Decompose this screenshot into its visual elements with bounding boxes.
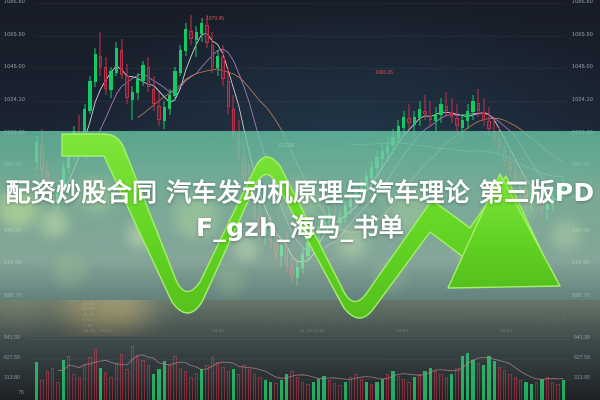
candle-body bbox=[546, 204, 549, 209]
candle-body bbox=[258, 215, 261, 232]
candle-body bbox=[296, 267, 299, 278]
indicator-bar bbox=[414, 317, 415, 322]
volume-tick-label: 313.80 bbox=[574, 376, 590, 381]
indicator-bar bbox=[350, 317, 351, 322]
indicator-bar bbox=[244, 319, 245, 322]
candlestick bbox=[40, 0, 43, 300]
indicator-panel: 46.3532.8019.256.40-7.30-21.95 09:3010:3… bbox=[0, 300, 600, 336]
candle-body bbox=[530, 192, 533, 200]
price-tick-label: 961.40 bbox=[4, 196, 22, 201]
candlestick bbox=[413, 0, 416, 300]
candlestick bbox=[471, 0, 474, 300]
candlestick bbox=[157, 0, 160, 300]
indicator-bar bbox=[531, 321, 532, 322]
volume-tick-label: 627.59 bbox=[4, 356, 20, 361]
candle-body bbox=[221, 57, 224, 79]
candlestick bbox=[487, 0, 490, 300]
price-tick-label: 1086.80 bbox=[572, 0, 593, 5]
candlestick bbox=[338, 0, 341, 300]
indicator-bar bbox=[153, 320, 154, 322]
price-annotation: 912.29 → bbox=[279, 144, 301, 149]
candlestick bbox=[173, 0, 176, 300]
price-tick-label: 982.30 bbox=[572, 163, 590, 168]
candle-body bbox=[115, 48, 118, 73]
candle-body bbox=[269, 225, 272, 242]
indicator-bar bbox=[190, 318, 191, 322]
candlestick bbox=[168, 0, 171, 300]
indicator-bar bbox=[217, 315, 218, 322]
candlestick bbox=[306, 0, 309, 300]
candle-body bbox=[562, 184, 565, 190]
price-tick-label: 1045.00 bbox=[572, 65, 593, 70]
price-tick-label: 1045.00 bbox=[4, 65, 25, 70]
candlestick bbox=[152, 0, 155, 300]
price-tick-label: 919.60 bbox=[572, 261, 590, 266]
indicator-bar bbox=[419, 316, 420, 322]
candle-body bbox=[439, 104, 442, 115]
indicator-bar bbox=[286, 319, 287, 322]
candle-body bbox=[195, 32, 198, 40]
candlestick bbox=[466, 0, 469, 300]
indicator-bar bbox=[297, 319, 298, 322]
indicator-bar bbox=[212, 315, 213, 322]
candlestick bbox=[67, 0, 70, 300]
candlestick bbox=[381, 0, 384, 300]
candlestick bbox=[195, 0, 198, 300]
candle-body bbox=[168, 95, 171, 109]
volume-tick-label: 941.39 bbox=[574, 336, 590, 341]
candlestick bbox=[104, 0, 107, 300]
candle-body bbox=[72, 131, 75, 156]
indicator-bar bbox=[47, 319, 48, 322]
candle-body bbox=[56, 192, 59, 205]
indicator-bar bbox=[371, 318, 372, 323]
indicator-bar bbox=[467, 320, 468, 322]
candle-body bbox=[179, 50, 182, 73]
candlestick bbox=[535, 0, 538, 300]
candlestick bbox=[200, 0, 203, 300]
indicator-bar bbox=[552, 318, 553, 323]
indicator-bar bbox=[206, 315, 207, 322]
candlestick bbox=[179, 0, 182, 300]
candle-wick bbox=[100, 32, 101, 76]
candle-body bbox=[429, 115, 432, 120]
candle-body bbox=[35, 142, 38, 162]
indicator-bar bbox=[185, 319, 186, 322]
indicator-bar bbox=[318, 320, 319, 322]
indicator-bar bbox=[361, 317, 362, 322]
candle-body bbox=[152, 89, 155, 105]
candle-body bbox=[306, 242, 309, 256]
candle-body bbox=[99, 56, 102, 67]
indicator-bar bbox=[105, 319, 106, 322]
volume-tick-label: 627.59 bbox=[574, 356, 590, 361]
indicator-bar bbox=[462, 319, 463, 322]
candle-body bbox=[466, 111, 469, 122]
price-tick-label: 1024.10 bbox=[572, 98, 593, 103]
candle-body bbox=[131, 92, 134, 100]
candle-body bbox=[163, 107, 166, 121]
candle-body bbox=[322, 220, 325, 228]
candle-body bbox=[349, 198, 352, 207]
candle-body bbox=[328, 214, 331, 222]
candle-body bbox=[88, 81, 91, 111]
candlestick bbox=[445, 0, 448, 300]
candle-body bbox=[184, 29, 187, 51]
candlestick bbox=[62, 0, 65, 300]
candle-body bbox=[397, 126, 400, 139]
candle-body bbox=[386, 145, 389, 153]
indicator-bar bbox=[79, 316, 80, 322]
candle-body bbox=[40, 145, 43, 170]
indicator-bar bbox=[281, 319, 282, 322]
indicator-bar bbox=[446, 316, 447, 322]
candlestick bbox=[285, 0, 288, 300]
price-tick-label: 1065.90 bbox=[4, 33, 25, 38]
candle-body bbox=[455, 118, 458, 126]
indicator-bar bbox=[228, 315, 229, 322]
indicator-bar bbox=[73, 316, 74, 322]
price-tick-label: 919.60 bbox=[4, 261, 22, 266]
candlestick bbox=[344, 0, 347, 300]
candle-body bbox=[519, 181, 522, 189]
candlestick bbox=[370, 0, 373, 300]
indicator-bar bbox=[127, 321, 128, 323]
indicator-bar bbox=[377, 318, 378, 322]
indicator-bar bbox=[196, 317, 197, 322]
price-annotation: ←1079.45 bbox=[201, 17, 224, 22]
candlestick bbox=[540, 0, 543, 300]
indicator-bar bbox=[84, 317, 85, 322]
candlestick bbox=[434, 0, 437, 300]
candlestick bbox=[237, 0, 240, 300]
price-tick-label: 1003.20 bbox=[572, 131, 593, 136]
indicator-bar bbox=[121, 321, 122, 323]
indicator-bar bbox=[57, 317, 58, 322]
candlestick bbox=[519, 0, 522, 300]
candlestick bbox=[317, 0, 320, 300]
candle-body bbox=[285, 247, 288, 266]
candle-body bbox=[205, 25, 208, 44]
candle-body bbox=[471, 101, 474, 112]
indicator-bar bbox=[159, 321, 160, 323]
candle-body bbox=[487, 121, 490, 129]
candle-wick bbox=[79, 115, 80, 142]
indicator-bar bbox=[339, 318, 340, 322]
candle-body bbox=[375, 157, 378, 168]
volume-tick-label: 313.80 bbox=[4, 376, 20, 381]
indicator-bar bbox=[435, 315, 436, 322]
candlestick bbox=[280, 0, 283, 300]
indicator-bar bbox=[403, 319, 404, 322]
price-tick-label: 940.50 bbox=[572, 229, 590, 234]
candle-body bbox=[173, 71, 176, 96]
candlestick bbox=[360, 0, 363, 300]
price-tick-label: 898.70 bbox=[4, 294, 22, 299]
candlestick bbox=[429, 0, 432, 300]
candle-body bbox=[524, 190, 527, 198]
candlestick bbox=[147, 0, 150, 300]
candle-wick bbox=[409, 104, 410, 129]
volume-ma-svg bbox=[0, 337, 600, 400]
candle-body bbox=[450, 112, 453, 117]
indicator-bar bbox=[265, 320, 266, 322]
candlestick bbox=[94, 0, 97, 300]
candlestick bbox=[455, 0, 458, 300]
candlestick bbox=[493, 0, 496, 300]
candlestick bbox=[88, 0, 91, 300]
candlestick bbox=[163, 0, 166, 300]
candlestick bbox=[258, 0, 261, 300]
indicator-bar bbox=[175, 321, 176, 322]
indicator-bar bbox=[270, 320, 271, 323]
candlestick bbox=[78, 0, 81, 300]
candlestick bbox=[248, 0, 251, 300]
indicator-bar bbox=[425, 315, 426, 322]
candle-body bbox=[46, 171, 49, 193]
indicator-bar bbox=[137, 320, 138, 322]
volume-tick-label: 75 bbox=[18, 391, 24, 396]
price-tick-label: 1024.10 bbox=[4, 98, 25, 103]
candle-body bbox=[344, 206, 347, 219]
candle-body bbox=[402, 117, 405, 128]
candle-wick bbox=[446, 92, 447, 117]
candle-body bbox=[381, 151, 384, 159]
candle-body bbox=[200, 23, 203, 34]
indicator-bar bbox=[164, 321, 165, 322]
candle-body bbox=[498, 140, 501, 148]
candle-body bbox=[413, 117, 416, 125]
indicator-bar bbox=[111, 320, 112, 322]
indicator-bar bbox=[558, 317, 559, 322]
candle-wick bbox=[451, 98, 452, 123]
indicator-bar bbox=[68, 316, 69, 322]
candlestick bbox=[397, 0, 400, 300]
candlestick bbox=[274, 0, 277, 300]
indicator-bar bbox=[441, 316, 442, 322]
candle-body bbox=[407, 118, 410, 123]
price-annotation: 1066.05 bbox=[375, 71, 393, 76]
candlestick bbox=[189, 0, 192, 300]
candlestick bbox=[253, 0, 256, 300]
candle-body bbox=[94, 54, 97, 82]
indicator-bar bbox=[276, 319, 277, 322]
indicator-bar bbox=[201, 316, 202, 322]
indicator-bar bbox=[308, 320, 309, 323]
indicator-bar bbox=[63, 316, 64, 322]
candle-wick bbox=[196, 26, 197, 57]
candlestick bbox=[402, 0, 405, 300]
indicator-bar bbox=[143, 320, 144, 322]
indicator-bar bbox=[329, 319, 330, 322]
candlestick bbox=[51, 0, 54, 300]
candle-body bbox=[78, 132, 81, 135]
indicator-bar bbox=[409, 318, 410, 322]
indicator-bar bbox=[345, 318, 346, 322]
volume-ma-line bbox=[58, 355, 563, 380]
candlestick bbox=[503, 0, 506, 300]
indicator-bar bbox=[478, 321, 479, 322]
candle-body bbox=[477, 103, 480, 111]
candlestick bbox=[141, 0, 144, 300]
indicator-bar bbox=[292, 319, 293, 322]
candle-body bbox=[360, 186, 363, 194]
candlestick bbox=[477, 0, 480, 300]
price-chart-panel: 1086.801065.901045.001024.101003.20982.3… bbox=[0, 0, 600, 300]
candle-body bbox=[290, 267, 293, 276]
candle-body bbox=[62, 167, 65, 192]
candle-body bbox=[242, 156, 245, 176]
candlestick bbox=[461, 0, 464, 300]
candle-body bbox=[493, 131, 496, 139]
candle-body bbox=[120, 50, 123, 75]
candle-body bbox=[317, 226, 320, 234]
indicator-series-svg bbox=[0, 300, 600, 336]
indicator-bar bbox=[52, 318, 53, 322]
candlestick bbox=[109, 0, 112, 300]
candlestick bbox=[72, 0, 75, 300]
indicator-bar bbox=[116, 320, 117, 322]
candlestick bbox=[365, 0, 368, 300]
candlestick bbox=[46, 0, 49, 300]
candle-body bbox=[503, 150, 506, 161]
candlestick bbox=[551, 0, 554, 300]
candle-body bbox=[274, 243, 277, 254]
indicator-bar bbox=[302, 319, 303, 322]
candlestick bbox=[498, 0, 501, 300]
indicator-bar bbox=[451, 317, 452, 322]
price-tick-label: 1003.20 bbox=[4, 131, 25, 136]
candle-body bbox=[216, 56, 219, 69]
candle-wick bbox=[430, 101, 431, 126]
candlestick bbox=[556, 0, 559, 300]
candlestick bbox=[423, 0, 426, 300]
candlestick bbox=[530, 0, 533, 300]
candlestick bbox=[232, 0, 235, 300]
candlestick bbox=[514, 0, 517, 300]
candlestick bbox=[375, 0, 378, 300]
candle-body bbox=[232, 109, 235, 132]
candlestick bbox=[546, 0, 549, 300]
candlestick bbox=[333, 0, 336, 300]
indicator-bar bbox=[382, 319, 383, 322]
price-tick-label: 1065.90 bbox=[572, 33, 593, 38]
candlestick bbox=[120, 0, 123, 300]
price-tick-label: 940.50 bbox=[4, 229, 22, 234]
candlestick bbox=[56, 0, 59, 300]
candlestick bbox=[211, 0, 214, 300]
candlestick bbox=[524, 0, 527, 300]
price-tick-label: 1086.80 bbox=[4, 0, 25, 5]
candlestick bbox=[131, 0, 134, 300]
candle-body bbox=[109, 71, 112, 90]
candlestick bbox=[290, 0, 293, 300]
candle-body bbox=[418, 109, 421, 118]
candle-body bbox=[51, 195, 54, 203]
candlestick bbox=[216, 0, 219, 300]
candle-body bbox=[104, 67, 107, 89]
candle-body bbox=[237, 134, 240, 154]
indicator-bar bbox=[456, 318, 457, 322]
candle-body bbox=[514, 171, 517, 179]
indicator-bar bbox=[536, 320, 537, 322]
indicator-bar bbox=[334, 319, 335, 322]
candle-body bbox=[301, 254, 304, 268]
indicator-bar bbox=[430, 315, 431, 322]
candlestick bbox=[269, 0, 272, 300]
indicator-bar bbox=[42, 321, 43, 323]
candlestick bbox=[386, 0, 389, 300]
candle-body bbox=[551, 195, 554, 206]
candle-body bbox=[482, 112, 485, 120]
candle-body bbox=[136, 79, 139, 93]
indicator-bar bbox=[89, 317, 90, 322]
indicator-bar bbox=[542, 320, 543, 323]
indicator-bar bbox=[249, 320, 250, 322]
indicator-bar bbox=[148, 320, 149, 322]
candle-wick bbox=[536, 179, 537, 204]
chart-screenshot: 1086.801065.901045.001024.101003.20982.3… bbox=[0, 0, 600, 400]
candle-body bbox=[370, 167, 373, 178]
candlestick bbox=[83, 0, 86, 300]
indicator-bar bbox=[355, 317, 356, 322]
indicator-bar bbox=[313, 320, 314, 322]
candle-body bbox=[280, 245, 283, 256]
candle-body bbox=[365, 176, 368, 187]
indicator-bar bbox=[180, 320, 181, 322]
candle-body bbox=[535, 193, 538, 198]
candlestick bbox=[184, 0, 187, 300]
candlestick bbox=[482, 0, 485, 300]
candlestick bbox=[391, 0, 394, 300]
candlestick bbox=[450, 0, 453, 300]
candlestick bbox=[439, 0, 442, 300]
candle-body bbox=[461, 120, 464, 128]
candlestick bbox=[205, 0, 208, 300]
price-tick-label: 961.40 bbox=[572, 196, 590, 201]
candle-body bbox=[248, 178, 251, 195]
indicator-bar bbox=[387, 320, 388, 322]
indicator-bar bbox=[100, 319, 101, 322]
indicator-bar bbox=[366, 317, 367, 322]
candle-body bbox=[157, 106, 160, 120]
candle-body bbox=[333, 215, 336, 221]
indicator-bar bbox=[238, 318, 239, 323]
candlestick bbox=[125, 0, 128, 300]
candlestick bbox=[115, 0, 118, 300]
candle-body bbox=[391, 137, 394, 146]
candle-wick bbox=[425, 95, 426, 120]
candlestick bbox=[301, 0, 304, 300]
candle-body bbox=[445, 106, 448, 111]
candlestick bbox=[136, 0, 139, 300]
candlestick bbox=[328, 0, 331, 300]
candlestick bbox=[35, 0, 38, 300]
candle-body bbox=[67, 154, 70, 168]
price-tick-label: 898.70 bbox=[572, 294, 590, 299]
candle-wick bbox=[132, 86, 133, 120]
candlestick bbox=[418, 0, 421, 300]
indicator-bar bbox=[563, 316, 564, 322]
candle-body bbox=[83, 109, 86, 136]
candle-body bbox=[227, 81, 230, 108]
candlestick bbox=[296, 0, 299, 300]
candlestick bbox=[354, 0, 357, 300]
candle-body bbox=[189, 31, 192, 39]
candlestick bbox=[221, 0, 224, 300]
indicator-bar bbox=[233, 316, 234, 322]
indicator-bar bbox=[222, 315, 223, 322]
